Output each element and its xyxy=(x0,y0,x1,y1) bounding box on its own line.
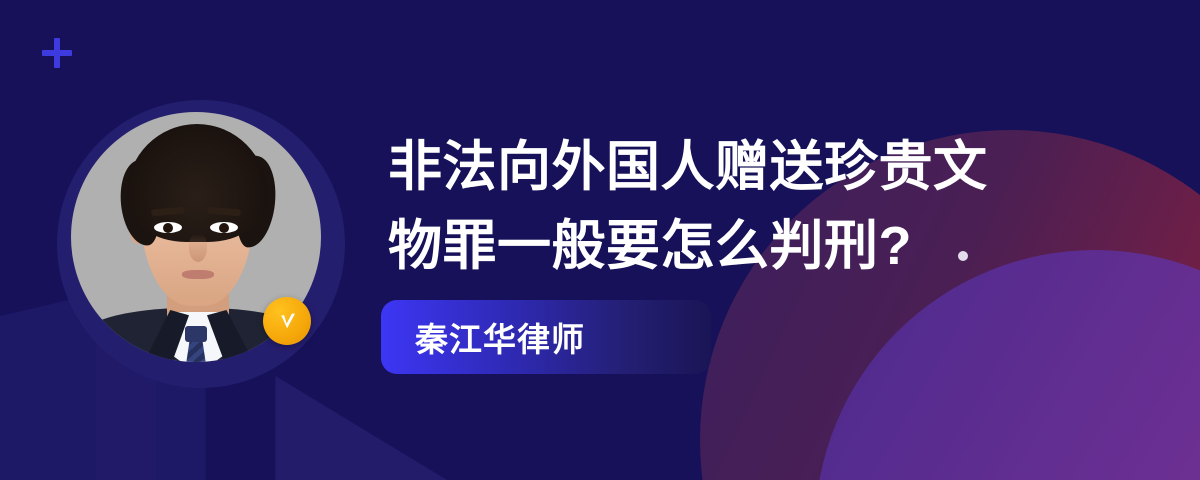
portrait-mouth xyxy=(182,270,214,279)
page-title: 非法向外国人赠送珍贵文 物罪一般要怎么判刑? xyxy=(388,128,1088,286)
portrait-eye-right xyxy=(210,222,238,233)
portrait-nose xyxy=(189,234,207,262)
author-name-label: 秦江华律师 xyxy=(415,313,585,361)
portrait-eye-left xyxy=(154,222,182,233)
plus-icon xyxy=(42,38,72,68)
portrait-hair xyxy=(127,124,267,242)
avatar xyxy=(57,100,345,388)
portrait-tie-knot xyxy=(185,326,207,342)
author-name-badge[interactable]: 秦江华律师 xyxy=(381,300,711,374)
lawyer-qa-banner: 非法向外国人赠送珍贵文 物罪一般要怎么判刑? 秦江华律师 xyxy=(0,0,1200,480)
verified-check-icon xyxy=(263,297,311,345)
